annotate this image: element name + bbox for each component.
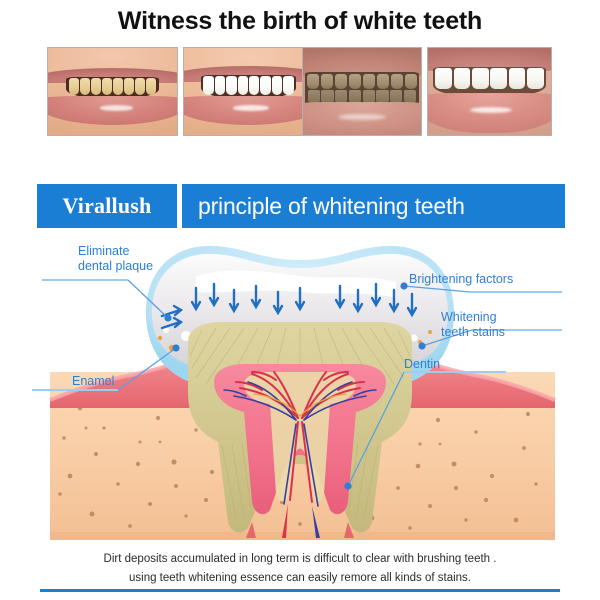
- brand-name: Virallush: [37, 184, 177, 228]
- callout-whitening-teeth-stains: Whitening teeth stains: [441, 310, 505, 340]
- banner-title: principle of whitening teeth: [182, 184, 565, 228]
- callout-brightening-factors: Brightening factors: [409, 272, 513, 287]
- photo-white-teeth-after: [183, 47, 314, 136]
- callout-dentin: Dentin: [404, 357, 440, 372]
- callout-eliminate-dental-plaque: Eliminate dental plaque: [78, 244, 153, 274]
- callout-enamel: Enamel: [72, 374, 114, 389]
- caption-line-2: using teeth whitening essence can easily…: [50, 569, 550, 588]
- caption: Dirt deposits accumulated in long term i…: [50, 550, 550, 588]
- photo-yellow-teeth-before: [47, 47, 178, 136]
- before-after-photo-strip: [47, 47, 553, 136]
- brand-banner: Virallush principle of whitening teeth: [37, 184, 565, 228]
- bottom-divider: [40, 589, 560, 592]
- caption-line-1: Dirt deposits accumulated in long term i…: [50, 550, 550, 569]
- page-title: Witness the birth of white teeth: [0, 6, 600, 36]
- photo-decayed-teeth-before: [302, 47, 422, 136]
- photo-whitened-teeth-after: [427, 47, 552, 136]
